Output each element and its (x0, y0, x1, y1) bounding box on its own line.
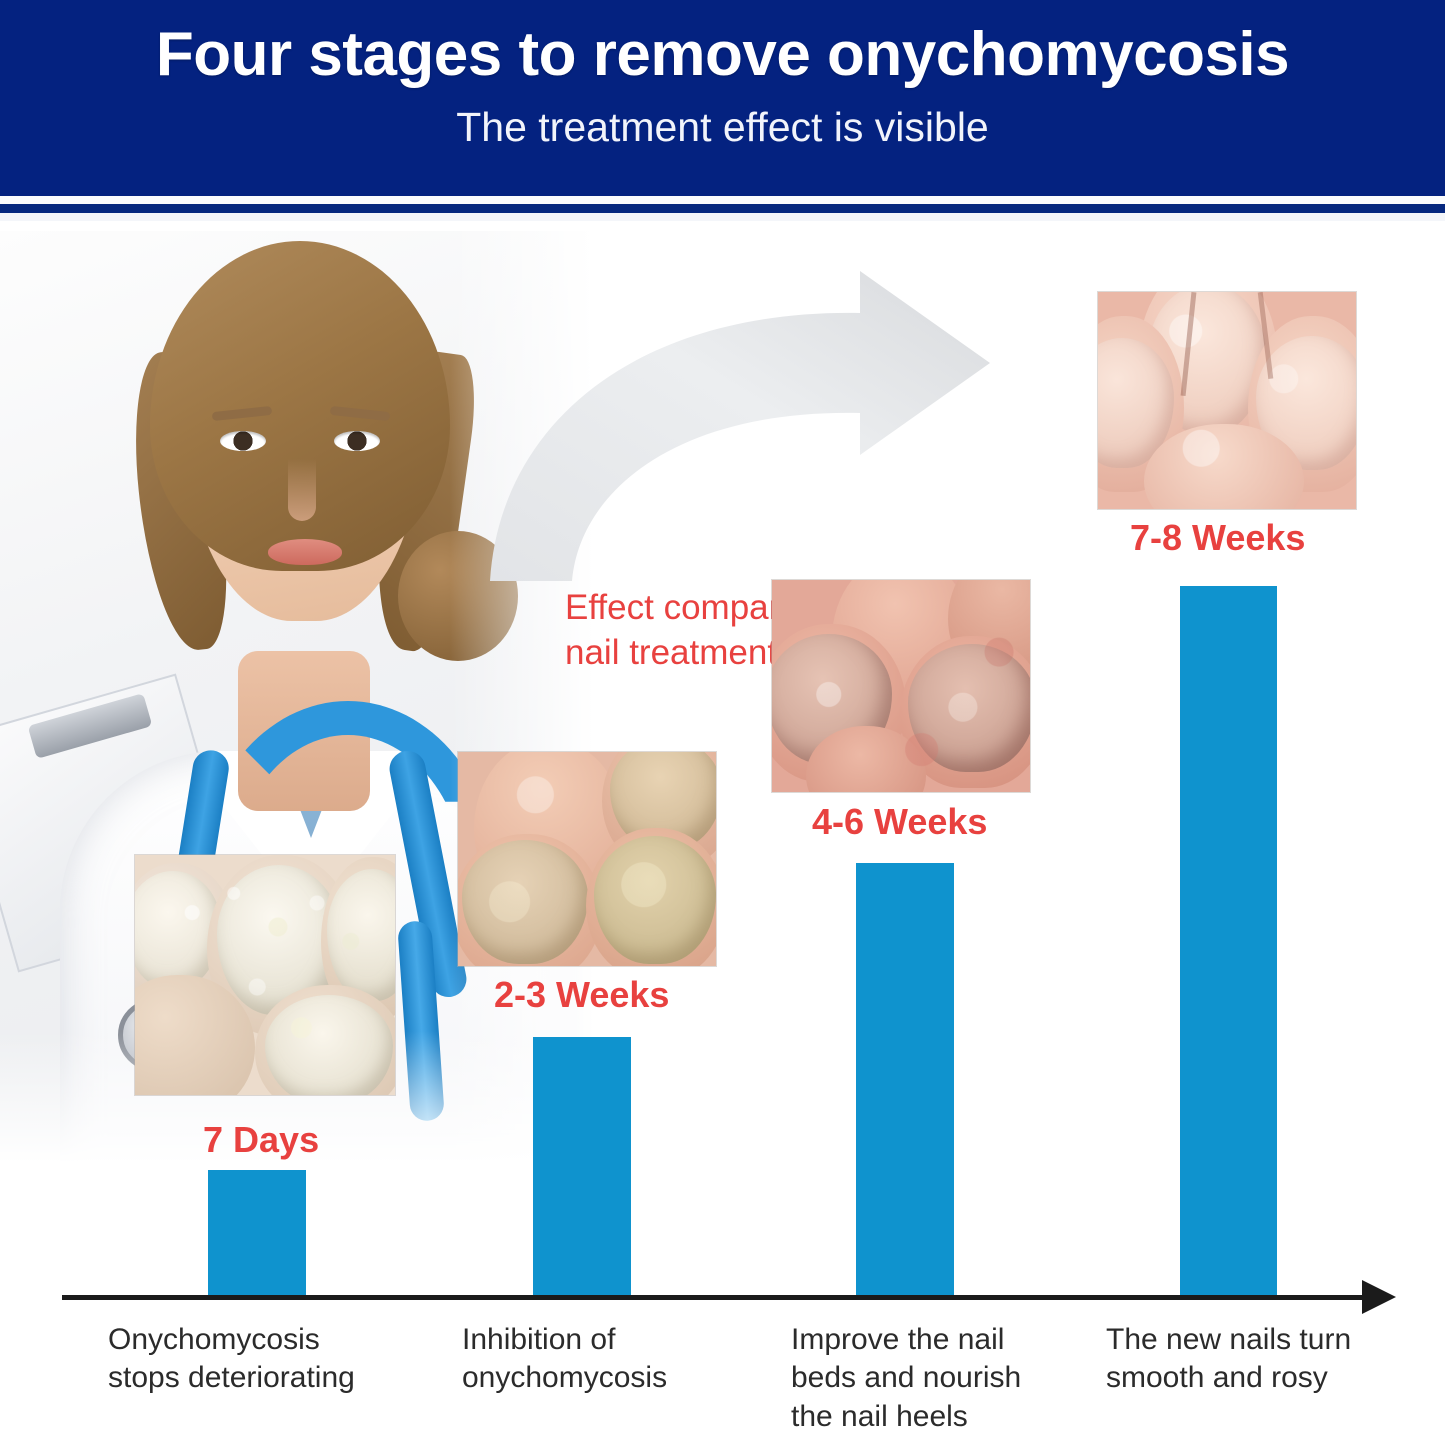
stage-caption-1: Onychomycosis stops deteriorating (108, 1321, 408, 1398)
nail-image-3 (772, 580, 1030, 792)
nail-image-2 (458, 752, 716, 966)
stage-caption-3-line-1: Improve the nail (791, 1321, 1091, 1359)
stage-caption-3-line-3: the nail heels (791, 1398, 1091, 1436)
page-title: Four stages to remove onychomycosis (156, 22, 1289, 87)
nail-image-1 (135, 855, 395, 1095)
stage-caption-1-line-1: Onychomycosis (108, 1321, 408, 1359)
poster-root: Four stages to remove onychomycosis The … (0, 0, 1445, 1445)
page-subtitle: The treatment effect is visible (456, 105, 988, 150)
stage-caption-4-line-1: The new nails turn (1106, 1321, 1406, 1359)
header-divider-fade (0, 213, 1445, 221)
time-label-stage-1: 7 Days (203, 1119, 319, 1161)
main-illustration: Effect comparison of the nail treatment … (0, 221, 1445, 1445)
nail-photo-stage-4 (1098, 292, 1356, 509)
header-divider-gap (0, 196, 1445, 204)
stage-caption-3: Improve the nail beds and nourish the na… (791, 1321, 1091, 1436)
nail-image-4 (1098, 292, 1356, 509)
x-axis-line (62, 1295, 1367, 1300)
time-label-stage-4: 7-8 Weeks (1130, 517, 1305, 559)
time-label-stage-2: 2-3 Weeks (494, 974, 669, 1016)
nose (288, 459, 316, 521)
header-banner: Four stages to remove onychomycosis The … (0, 0, 1445, 196)
stage-caption-2-line-1: Inhibition of (462, 1321, 762, 1359)
nail-photo-stage-3 (772, 580, 1030, 792)
eye-left (220, 431, 266, 451)
nail-photo-stage-1 (135, 855, 395, 1095)
header-divider-line (0, 204, 1445, 213)
stage-caption-1-line-2: stops deteriorating (108, 1359, 408, 1397)
bar-stage-2 (533, 1037, 631, 1298)
stage-caption-2-line-2: onychomycosis (462, 1359, 762, 1397)
lips (268, 539, 342, 565)
stage-caption-4: The new nails turn smooth and rosy (1106, 1321, 1406, 1398)
axis-arrow-icon (1362, 1280, 1396, 1314)
stage-caption-4-line-2: smooth and rosy (1106, 1359, 1406, 1397)
bar-stage-4 (1180, 586, 1277, 1298)
eye-right (334, 431, 380, 451)
bar-stage-3 (856, 863, 954, 1298)
nail-photo-stage-2 (458, 752, 716, 966)
bar-stage-1 (208, 1170, 306, 1298)
time-label-stage-3: 4-6 Weeks (812, 801, 987, 843)
stage-caption-2: Inhibition of onychomycosis (462, 1321, 762, 1398)
stage-caption-3-line-2: beds and nourish (791, 1359, 1091, 1397)
